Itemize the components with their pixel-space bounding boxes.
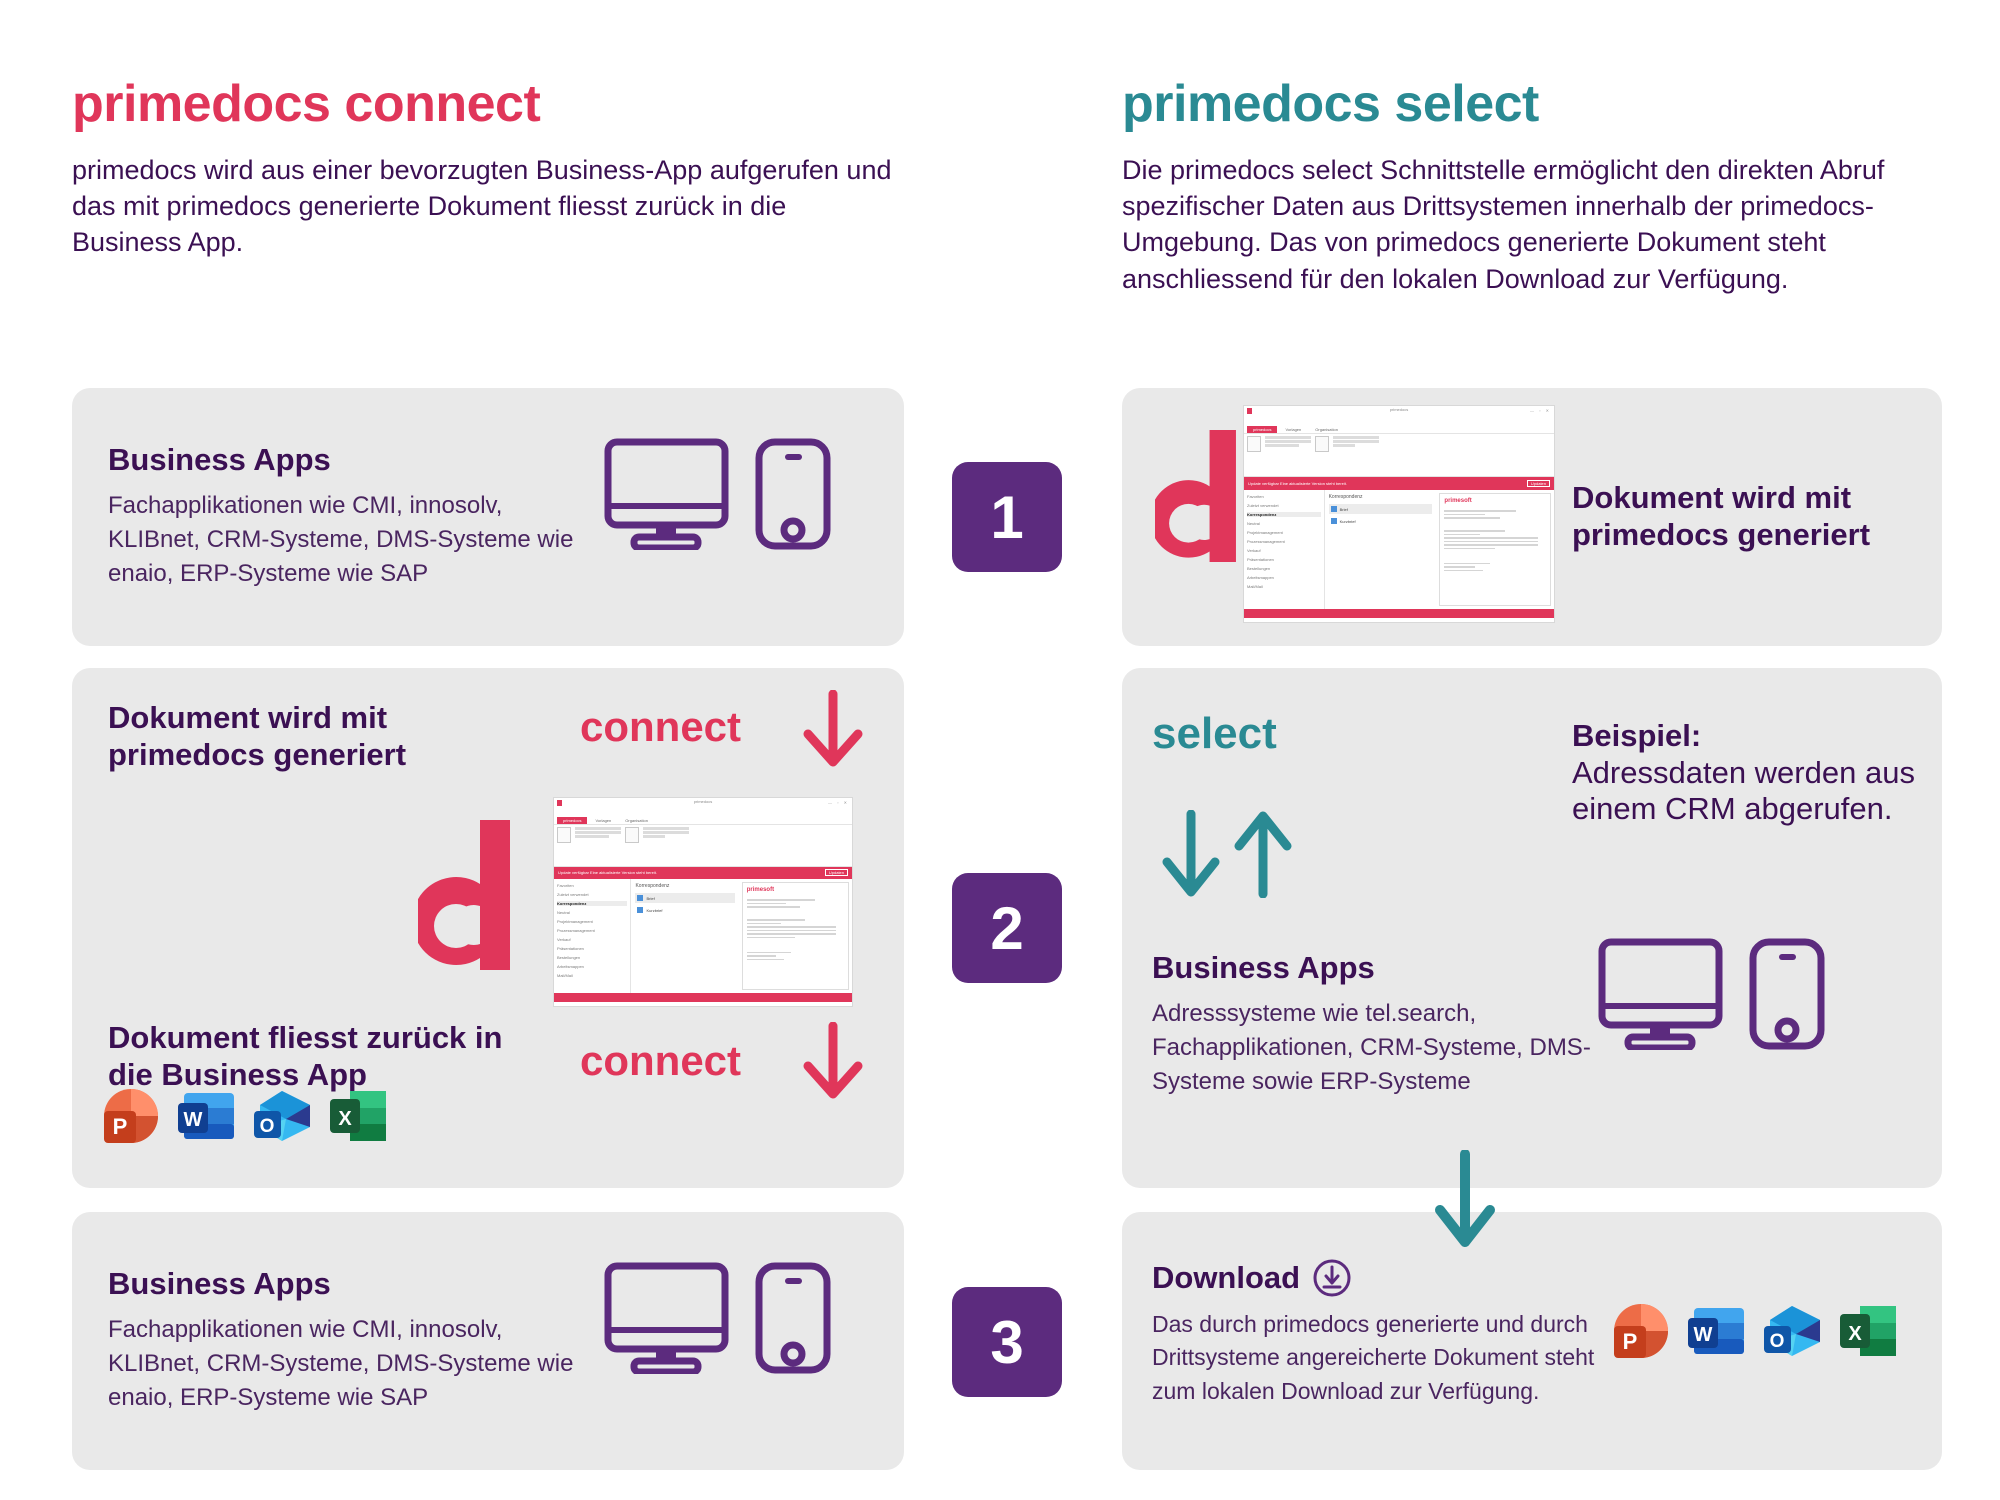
svg-text:X: X xyxy=(1848,1323,1862,1345)
connect-wordmark-1: connect xyxy=(580,706,741,748)
select-example-body: Adressdaten werden aus einem CRM abgeruf… xyxy=(1572,755,1922,828)
powerpoint-icon: P xyxy=(1610,1300,1672,1362)
content-row-label: Brief xyxy=(646,896,654,901)
ribbon-line xyxy=(1333,440,1379,443)
primedocs-d-logo xyxy=(418,820,518,970)
nav-item[interactable]: Arbeitsmappen xyxy=(557,964,627,969)
screenshot-body: Favoriten Zuletzt verwendet Korresponden… xyxy=(1244,490,1554,609)
connect-business-apps-bottom-heading: Business Apps xyxy=(108,1266,578,1303)
screenshot-alert-bar: Update verfügbar Eine aktualisierte Vers… xyxy=(554,867,852,879)
screenshot-tab-vorlagen: Vorlagen xyxy=(589,817,617,824)
content-row-label: Brief xyxy=(1340,507,1348,512)
screenshot-window-title: primedocs xyxy=(1390,407,1408,412)
svg-text:W: W xyxy=(184,1109,203,1131)
connect-business-apps-top-body: Fachapplikationen wie CMI, innosolv, KLI… xyxy=(108,489,578,591)
nav-item[interactable]: Zuletzt verwendet xyxy=(1247,503,1321,508)
excel-icon: X xyxy=(1838,1300,1900,1362)
template-icon xyxy=(625,827,639,843)
arrow-down-icon-connect-1 xyxy=(800,690,866,768)
select-business-apps-text: Business Apps Adresssysteme wie tel.sear… xyxy=(1152,950,1622,1099)
step-badge-2: 2 xyxy=(952,873,1062,983)
office-icons-connect: P W O xyxy=(100,1085,390,1147)
nav-item[interactable]: Verkauf xyxy=(1247,548,1321,553)
nav-item[interactable]: Bestellungen xyxy=(1247,566,1321,571)
screenshot-sidebar: Favoriten Zuletzt verwendet Korresponden… xyxy=(1244,490,1325,609)
ribbon-line xyxy=(1265,436,1311,439)
arrow-down-icon-to-download xyxy=(1430,1150,1500,1250)
ribbon-line xyxy=(643,831,689,834)
app-screenshot-connect: primedocs — ▫ ✕ primedocs Vorlagen Organ… xyxy=(553,797,853,1007)
content-title: Korrespondenz xyxy=(635,883,734,889)
screenshot-ribbon xyxy=(554,825,852,867)
nav-item[interactable]: Prozessmanagement xyxy=(1247,539,1321,544)
ribbon-line xyxy=(1333,436,1379,439)
screenshot-body: Favoriten Zuletzt verwendet Korresponden… xyxy=(554,879,852,993)
connect-intro: primedocs wird aus einer bevorzugten Bus… xyxy=(72,152,902,261)
arrow-up-icon-select xyxy=(1232,810,1294,898)
select-docgen-text: Dokument wird mit primedocs generiert xyxy=(1572,480,1932,563)
outlook-icon: O xyxy=(1762,1300,1824,1362)
select-example-label: Beispiel: xyxy=(1572,718,1922,755)
screenshot-titlebar: primedocs — ▫ ✕ xyxy=(554,798,852,813)
screenshot-tabs: primedocs Vorlagen Organisation xyxy=(554,813,852,825)
nav-item[interactable]: Favoriten xyxy=(557,883,627,888)
new-document-icon xyxy=(1247,436,1261,452)
ribbon-line xyxy=(1333,444,1355,447)
content-row[interactable]: Kurzbrief xyxy=(635,905,734,915)
ribbon-line xyxy=(1265,440,1311,443)
ribbon-group-search xyxy=(1333,436,1379,474)
select-download-text: Download Das durch primedocs generierte … xyxy=(1152,1258,1612,1408)
svg-text:X: X xyxy=(338,1108,352,1130)
select-download-heading: Download xyxy=(1152,1260,1300,1297)
document-icon xyxy=(1331,518,1337,524)
ribbon-line xyxy=(575,827,621,830)
arrow-down-icon-select xyxy=(1160,810,1222,898)
screenshot-tab-primedocs: primedocs xyxy=(1247,426,1277,433)
phone-icon xyxy=(755,1262,831,1374)
select-business-apps-body: Adresssysteme wie tel.search, Fachapplik… xyxy=(1152,997,1622,1099)
screenshot-window-title: primedocs xyxy=(694,799,712,804)
screenshot-document-preview: primesoft xyxy=(742,882,849,990)
app-screenshot-select: primedocs — ▫ ✕ primedocs Vorlagen Organ… xyxy=(1243,405,1555,623)
nav-item[interactable]: Verkauf xyxy=(557,937,627,942)
ribbon-group-new xyxy=(557,827,571,864)
arrow-down-icon-connect-2 xyxy=(800,1022,866,1100)
document-icon xyxy=(1331,506,1337,512)
connect-docgen-text: Dokument wird mit primedocs generiert xyxy=(108,700,528,783)
nav-item[interactable]: Prozessmanagement xyxy=(557,928,627,933)
device-icons-bottom-left xyxy=(604,1262,831,1374)
ribbon-line xyxy=(643,835,665,838)
powerpoint-icon: P xyxy=(100,1085,162,1147)
screenshot-window-controls: — ▫ ✕ xyxy=(1530,408,1551,413)
connect-docgen-heading: Dokument wird mit primedocs generiert xyxy=(108,700,528,773)
connect-title: primedocs connect xyxy=(72,78,902,130)
screenshot-window-controls: — ▫ ✕ xyxy=(828,800,849,805)
download-heading-row: Download xyxy=(1152,1258,1612,1298)
download-circle-icon xyxy=(1312,1258,1352,1298)
alert-update-button[interactable]: Updaten xyxy=(1527,480,1550,487)
screenshot-tab-primedocs: primedocs xyxy=(557,817,587,824)
device-icons-right xyxy=(1598,938,1825,1050)
nav-item[interactable]: Favoriten xyxy=(1247,494,1321,499)
nav-item-selected[interactable]: Korrespondenz xyxy=(557,901,627,906)
ribbon-group-templates xyxy=(1315,436,1329,474)
device-icons-top-left xyxy=(604,438,831,550)
nav-item[interactable]: Neutral xyxy=(1247,521,1321,526)
select-title: primedocs select xyxy=(1122,78,1942,130)
nav-item[interactable]: Zuletzt verwendet xyxy=(557,892,627,897)
connect-column-header: primedocs connect primedocs wird aus ein… xyxy=(72,78,902,261)
screenshot-tab-organisation: Organisation xyxy=(1309,426,1344,433)
connect-flowback-heading: Dokument fliesst zurück in die Business … xyxy=(108,1020,548,1093)
select-download-body: Das durch primedocs generierte und durch… xyxy=(1152,1308,1612,1408)
screenshot-titlebar: primedocs — ▫ ✕ xyxy=(1244,406,1554,421)
screenshot-tab-organisation: Organisation xyxy=(619,817,654,824)
svg-text:P: P xyxy=(1623,1329,1638,1354)
screenshot-content: Korrespondenz Brief Kurzbrief xyxy=(1325,490,1437,609)
nav-item[interactable]: Mail/Mail xyxy=(557,973,627,978)
nav-item[interactable]: Arbeitsmappen xyxy=(1247,575,1321,580)
preview-logo: primesoft xyxy=(747,887,844,893)
ribbon-line xyxy=(575,835,609,838)
svg-text:O: O xyxy=(1770,1331,1785,1352)
step-badge-1-number: 1 xyxy=(990,483,1023,552)
screenshot-alert-bar: Update verfügbar Eine aktualisierte Vers… xyxy=(1244,477,1554,490)
screenshot-status-bar xyxy=(554,993,852,1001)
screenshot-document-preview: primesoft xyxy=(1439,493,1551,606)
app-logo-dot xyxy=(1247,408,1252,414)
connect-business-apps-bottom-body: Fachapplikationen wie CMI, innosolv, KLI… xyxy=(108,1313,578,1415)
connect-business-apps-top-heading: Business Apps xyxy=(108,442,578,479)
select-intro: Die primedocs select Schnittstelle ermög… xyxy=(1122,152,1942,297)
svg-text:W: W xyxy=(1694,1324,1713,1346)
ribbon-group-search xyxy=(643,827,689,864)
phone-icon xyxy=(1749,938,1825,1050)
new-document-icon xyxy=(557,827,571,843)
content-row[interactable]: Brief xyxy=(635,893,734,903)
document-icon xyxy=(637,895,643,901)
word-icon: W xyxy=(176,1085,238,1147)
app-logo-dot xyxy=(557,800,562,806)
step-badge-1: 1 xyxy=(952,462,1062,572)
ribbon-group-favorites xyxy=(1265,436,1311,474)
phone-icon xyxy=(755,438,831,550)
alert-text: Update verfügbar Eine aktualisierte Vers… xyxy=(1248,481,1347,486)
screenshot-ribbon xyxy=(1244,434,1554,477)
word-icon: W xyxy=(1686,1300,1748,1362)
nav-item[interactable]: Mail/Mail xyxy=(1247,584,1321,589)
step-badge-3-number: 3 xyxy=(990,1308,1023,1377)
alert-update-button[interactable]: Updaten xyxy=(825,869,848,876)
screenshot-content: Korrespondenz Brief Kurzbrief xyxy=(631,879,738,993)
step-badge-2-number: 2 xyxy=(990,894,1023,963)
alert-text: Update verfügbar Eine aktualisierte Vers… xyxy=(558,870,657,875)
ribbon-group-favorites xyxy=(575,827,621,864)
nav-item[interactable]: Präsentationen xyxy=(557,946,627,951)
screenshot-tabs: primedocs Vorlagen Organisation xyxy=(1244,421,1554,434)
select-example-text: Beispiel: Adressdaten werden aus einem C… xyxy=(1572,718,1922,828)
document-icon xyxy=(637,907,643,913)
screenshot-status-bar xyxy=(1244,609,1554,618)
connect-wordmark-2: connect xyxy=(580,1040,741,1082)
screenshot-tab-vorlagen: Vorlagen xyxy=(1279,426,1307,433)
outlook-icon: O xyxy=(252,1085,314,1147)
office-icons-download: P W O xyxy=(1610,1300,1900,1362)
monitor-icon xyxy=(1598,938,1723,1050)
content-row-label: Kurzbrief xyxy=(646,908,662,913)
nav-item-selected[interactable]: Korrespondenz xyxy=(1247,512,1321,517)
nav-item[interactable]: Projektmanagement xyxy=(557,919,627,924)
select-business-apps-heading: Business Apps xyxy=(1152,950,1622,987)
screenshot-sidebar: Favoriten Zuletzt verwendet Korresponden… xyxy=(554,879,631,993)
connect-business-apps-top-text: Business Apps Fachapplikationen wie CMI,… xyxy=(108,442,578,591)
monitor-icon xyxy=(604,438,729,550)
excel-icon: X xyxy=(328,1085,390,1147)
infographic-page: primedocs connect primedocs wird aus ein… xyxy=(0,0,2000,1500)
template-icon xyxy=(1315,436,1329,452)
ribbon-line xyxy=(643,827,689,830)
nav-item[interactable]: Präsentationen xyxy=(1247,557,1321,562)
select-docgen-heading: Dokument wird mit primedocs generiert xyxy=(1572,480,1932,553)
nav-item[interactable]: Neutral xyxy=(557,910,627,915)
svg-text:P: P xyxy=(113,1114,128,1139)
ribbon-group-new xyxy=(1247,436,1261,474)
ribbon-line xyxy=(575,831,621,834)
svg-text:O: O xyxy=(260,1116,275,1137)
connect-business-apps-bottom-text: Business Apps Fachapplikationen wie CMI,… xyxy=(108,1266,578,1415)
select-column-header: primedocs select Die primedocs select Sc… xyxy=(1122,78,1942,297)
content-row[interactable]: Kurzbrief xyxy=(1329,516,1433,526)
monitor-icon xyxy=(604,1262,729,1374)
content-title: Korrespondenz xyxy=(1329,494,1433,500)
ribbon-group-templates xyxy=(625,827,639,864)
ribbon-line xyxy=(1265,444,1299,447)
nav-item[interactable]: Bestellungen xyxy=(557,955,627,960)
content-row[interactable]: Brief xyxy=(1329,504,1433,514)
step-badge-3: 3 xyxy=(952,1287,1062,1397)
preview-logo: primesoft xyxy=(1444,498,1546,504)
select-wordmark: select xyxy=(1152,712,1277,756)
primedocs-d-logo xyxy=(1155,430,1243,562)
content-row-label: Kurzbrief xyxy=(1340,519,1356,524)
nav-item[interactable]: Projektmanagement xyxy=(1247,530,1321,535)
